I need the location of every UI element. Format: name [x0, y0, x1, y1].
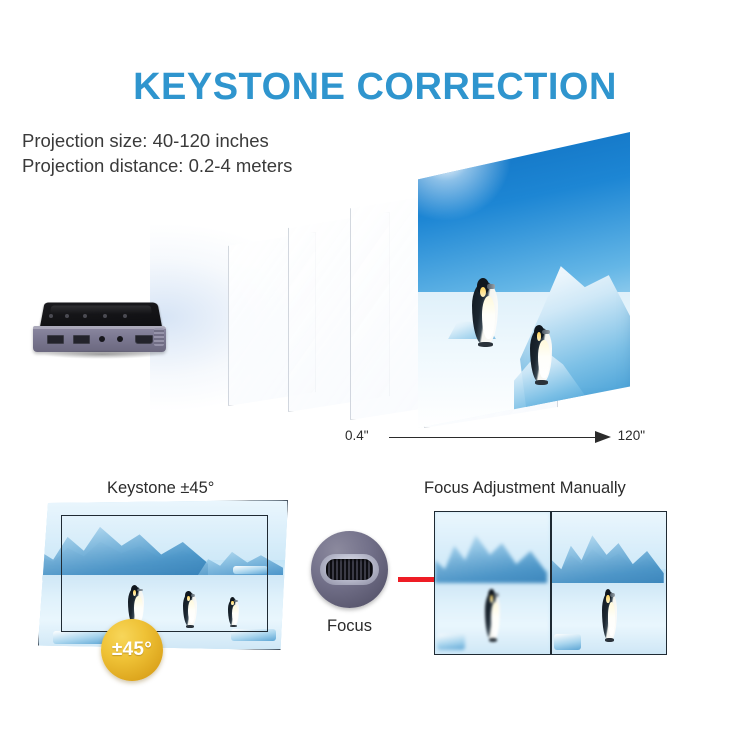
- spec-projection-size: Projection size: 40-120 inches: [22, 128, 292, 153]
- ice-floe: [53, 631, 108, 645]
- keystone-angle-badge: ±45°: [101, 619, 163, 681]
- projector-indicator-leds: [49, 314, 129, 319]
- infographic-stage: KEYSTONE CORRECTION Projection size: 40-…: [0, 0, 750, 750]
- focus-comparison: [434, 511, 667, 655]
- penguin: [472, 282, 498, 344]
- distance-arrow-line: [389, 437, 601, 438]
- spec-projection-distance: Projection distance: 0.2-4 meters: [22, 153, 292, 178]
- usb-port-icon: [73, 335, 90, 344]
- spec-list: Projection size: 40-120 inches Projectio…: [22, 128, 292, 178]
- projection-distance-scale: 0.4" 120": [345, 428, 645, 448]
- usb-port-icon: [47, 335, 64, 344]
- focus-panel-sharp: [551, 511, 668, 655]
- penguin: [602, 592, 617, 640]
- ice-floe: [437, 634, 464, 650]
- projected-screen-image: [418, 132, 630, 428]
- focus-dial[interactable]: [311, 531, 388, 608]
- projector-vent: [154, 328, 164, 346]
- keystone-corrected-frame: [61, 515, 269, 632]
- keystone-caption: Keystone ±45°: [107, 479, 214, 498]
- hdmi-port-icon: [135, 335, 153, 344]
- focus-caption: Focus Adjustment Manually: [424, 479, 626, 498]
- projector-shadow: [43, 350, 161, 359]
- penguin: [485, 592, 500, 640]
- projector-device: [33, 296, 166, 358]
- sun-flare: [418, 132, 534, 236]
- distance-max-label: 120": [618, 428, 645, 443]
- keystone-angle-label: ±45°: [112, 639, 152, 661]
- audio-jack-icon: [99, 336, 105, 342]
- arrow-head-icon: [595, 431, 611, 443]
- ice-floe: [554, 634, 581, 650]
- focus-panel-blurred: [434, 511, 551, 655]
- keystone-illustration: [38, 500, 288, 650]
- focus-dial-label: Focus: [311, 617, 388, 636]
- projector-port-panel: [33, 326, 166, 352]
- audio-jack-icon: [117, 336, 123, 342]
- focus-wheel[interactable]: [326, 559, 373, 580]
- distance-min-label: 0.4": [345, 428, 369, 443]
- penguin: [530, 328, 552, 382]
- page-title: KEYSTONE CORRECTION: [0, 66, 750, 109]
